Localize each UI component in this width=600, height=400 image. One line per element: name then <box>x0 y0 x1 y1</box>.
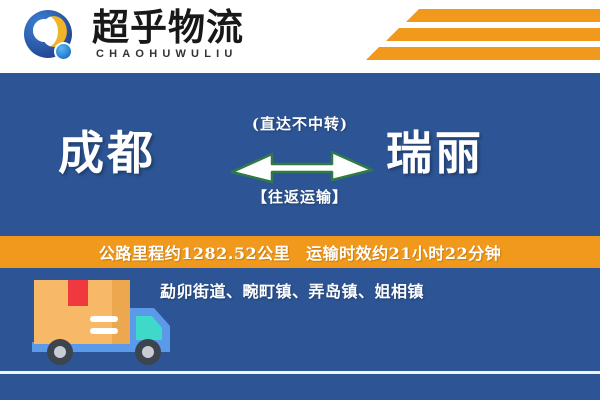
double-headed-arrow-icon <box>228 146 376 186</box>
logistics-route-banner: 超乎物流 CHAOHUWULIU 成都 (直达不中转) 【往返运输】 瑞丽 公路… <box>0 0 600 400</box>
distance-label: 公路里程约1282.52公里 <box>99 240 290 264</box>
destination-city: 瑞丽 <box>386 125 484 181</box>
route-note-above: (直达不中转) <box>0 113 600 134</box>
banner-header: 超乎物流 CHAOHUWULIU <box>0 0 600 73</box>
route-info-bar: 公路里程约1282.52公里 运输时效约21小时22分钟 <box>0 236 600 268</box>
logo-crescent-mask-shape <box>33 19 56 42</box>
stripe-3 <box>366 47 600 60</box>
company-logo-icon <box>24 10 80 66</box>
header-stripes-decoration <box>330 0 600 73</box>
coverage-section: 勐卯街道、畹町镇、弄岛镇、姐相镇 <box>0 268 600 400</box>
ground-line-divider <box>0 371 600 374</box>
stripe-2 <box>386 28 600 41</box>
duration-label: 运输时效约21小时22分钟 <box>306 240 501 264</box>
coverage-areas-label: 勐卯街道、畹町镇、弄岛镇、姐相镇 <box>160 281 580 303</box>
route-note-below: 【往返运输】 <box>0 186 600 207</box>
brand-name-pinyin: CHAOHUWULIU <box>96 48 238 60</box>
stripe-1 <box>406 9 600 22</box>
brand-name-chinese: 超乎物流 <box>92 6 244 48</box>
route-section: 成都 (直达不中转) 【往返运输】 瑞丽 <box>0 73 600 236</box>
logo-dot-shape <box>54 42 73 61</box>
